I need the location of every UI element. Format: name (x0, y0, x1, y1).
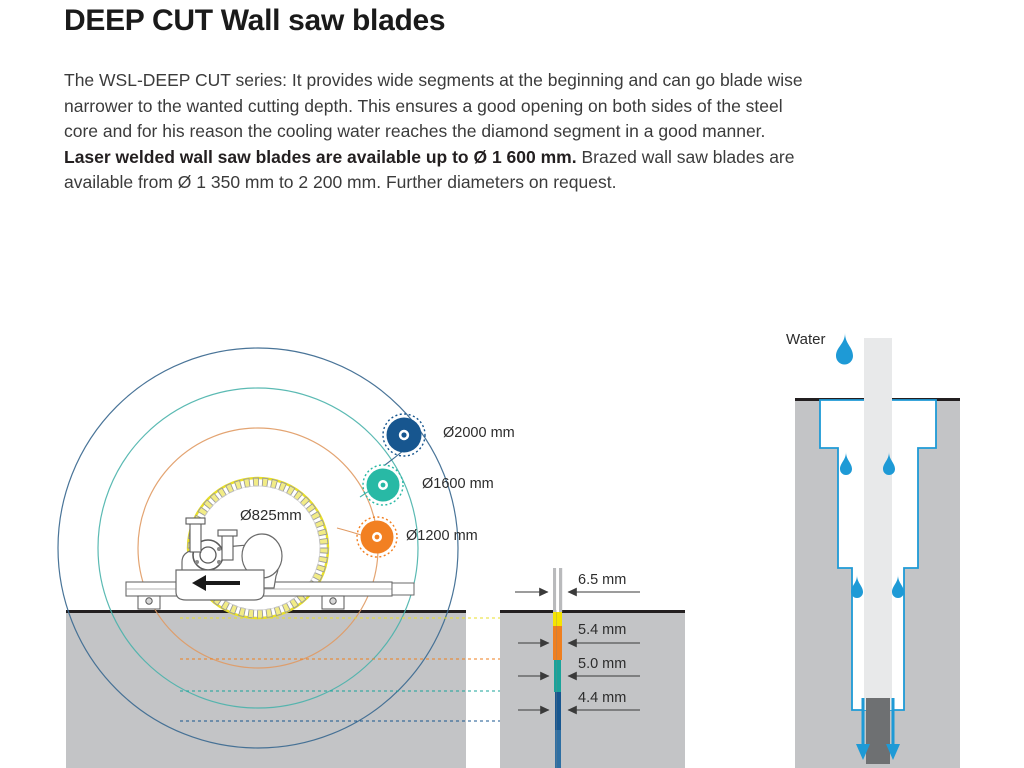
page-title: DEEP CUT Wall saw blades (64, 4, 445, 38)
legend-disc-d2000 (383, 414, 425, 456)
legend-label-d1600: Ø1600 mm (422, 476, 494, 492)
intro-paragraph: The WSL-DEEP CUT series: It provides wid… (64, 68, 816, 196)
paragraph-part-1: The WSL-DEEP CUT series: It provides wid… (64, 70, 803, 141)
thickness-label-5-0: 5.0 mm (578, 656, 626, 672)
legend-label-d1200: Ø1200 mm (406, 528, 478, 544)
diagram-svg (0, 300, 1024, 768)
thickness-band-54 (553, 626, 562, 660)
paragraph-bold-highlight: Laser welded wall saw blades are availab… (64, 147, 577, 167)
leader-d1200 (337, 528, 364, 536)
technical-diagram: Ø2000 mm Ø1600 mm Ø1200 mm Ø825mm 6.5 mm… (0, 300, 1024, 768)
thickness-label-5-4: 5.4 mm (578, 622, 626, 638)
thickness-band-44 (555, 692, 561, 730)
blade-body (864, 338, 892, 710)
legend-label-d2000: Ø2000 mm (443, 425, 515, 441)
thickness-band-50 (554, 660, 561, 692)
blade-diameter-label: Ø825mm (240, 507, 302, 524)
page-root: DEEP CUT Wall saw blades The WSL-DEEP CU… (0, 0, 1024, 768)
wall-section-left (66, 612, 466, 768)
water-kerf-diagram (795, 333, 960, 768)
thickness-label-4-4: 4.4 mm (578, 690, 626, 706)
water-label: Water (786, 331, 825, 348)
water-icon (836, 333, 853, 365)
legend-disc-d1200 (357, 517, 397, 557)
thickness-label-6-5: 6.5 mm (578, 572, 626, 588)
legend-disc-d1600 (363, 465, 403, 505)
thickness-band-65 (553, 612, 562, 626)
diamond-segment (866, 698, 890, 764)
